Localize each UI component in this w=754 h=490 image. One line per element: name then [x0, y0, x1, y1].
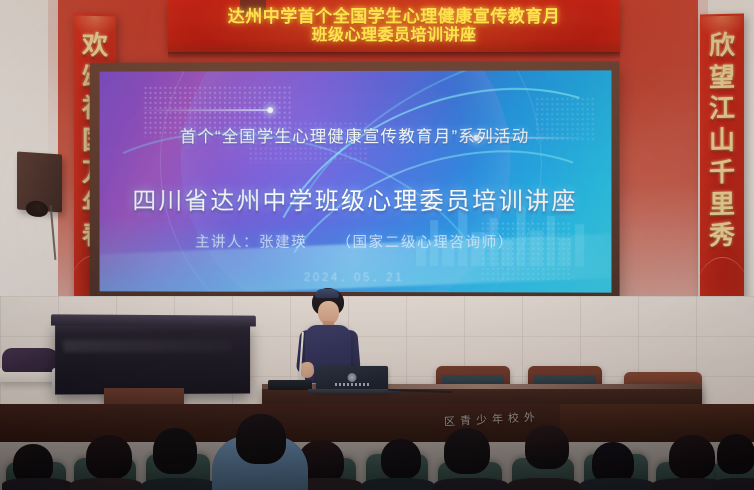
audience-shoulders	[2, 478, 72, 490]
laptop-brand-text	[335, 383, 369, 386]
slide-text-block: 首个“全国学生心理健康宣传教育月”系列活动 四川省达州中学班级心理委员培训讲座 …	[100, 70, 612, 292]
audience-area: 区青少年校外	[0, 404, 754, 490]
banner-line-2: 班级心理委员培训讲座	[311, 27, 476, 44]
piano-reflection	[63, 340, 232, 352]
piano-lid	[51, 314, 256, 326]
speaker-cone	[26, 200, 48, 218]
banner-decoration	[700, 15, 744, 42]
banner-arc-decoration	[700, 256, 744, 298]
audience-head	[381, 439, 421, 479]
audience-head	[86, 435, 132, 479]
slide-speaker-name: 主讲人：张建瑛	[195, 235, 307, 251]
audience-shoulders	[580, 478, 654, 490]
slide-speaker-line: 主讲人：张建瑛 （国家二级心理咨询师）	[100, 231, 612, 253]
vbanner-char: 秀	[709, 220, 735, 252]
projection-screen-frame: 首个“全国学生心理健康宣传教育月”系列活动 四川省达州中学班级心理委员培训讲座 …	[90, 61, 620, 298]
slide-title: 四川省达州中学班级心理委员培训讲座	[100, 181, 612, 216]
audience-head	[153, 428, 197, 474]
audience-head	[444, 428, 490, 474]
audience-shoulders	[508, 478, 580, 490]
vbanner-char: 山	[709, 125, 735, 157]
audience-head	[669, 435, 715, 479]
slide-speaker-credential: （国家二级心理咨询师）	[336, 235, 514, 251]
vbanner-char: 江	[709, 93, 735, 125]
event-banner: 达州中学首个全国学生心理健康宣传教育月 班级心理委员培训讲座	[168, 0, 620, 52]
slide-subtitle: 首个“全国学生心理健康宣传教育月”系列活动	[100, 123, 612, 148]
audience-shoulders	[712, 478, 754, 490]
slide-date: 2024．05．21	[100, 268, 612, 285]
audience-head	[236, 414, 286, 464]
banner-shadow	[168, 52, 620, 59]
audience-shoulders	[142, 478, 216, 490]
audience-head	[717, 434, 754, 474]
presenter-hair-clip	[315, 289, 339, 298]
vbanner-char: 里	[709, 188, 735, 220]
banner-line-1: 达州中学首个全国学生心理健康宣传教育月	[228, 8, 561, 26]
lecture-hall-photograph: 达州中学首个全国学生心理健康宣传教育月 班级心理委员培训讲座 欢 颂 祖 国 万…	[0, 0, 754, 490]
projection-screen: 首个“全国学生心理健康宣传教育月”系列活动 四川省达州中学班级心理委员培训讲座 …	[100, 70, 612, 292]
right-vertical-banner: 欣 望 江 山 千 里 秀	[700, 13, 744, 304]
laptop-base	[308, 389, 400, 394]
audience-shoulders	[434, 478, 508, 490]
audience-head	[525, 425, 569, 469]
laptop-logo-icon	[348, 373, 357, 382]
vbanner-char: 望	[709, 61, 735, 93]
banner-decoration	[74, 16, 116, 43]
wall-speaker-icon	[17, 151, 62, 212]
desk-equipment	[268, 380, 312, 390]
audience-shoulders	[70, 478, 142, 490]
upright-piano	[55, 321, 250, 394]
audience-shoulders	[362, 478, 434, 490]
vbanner-char: 千	[709, 157, 735, 189]
